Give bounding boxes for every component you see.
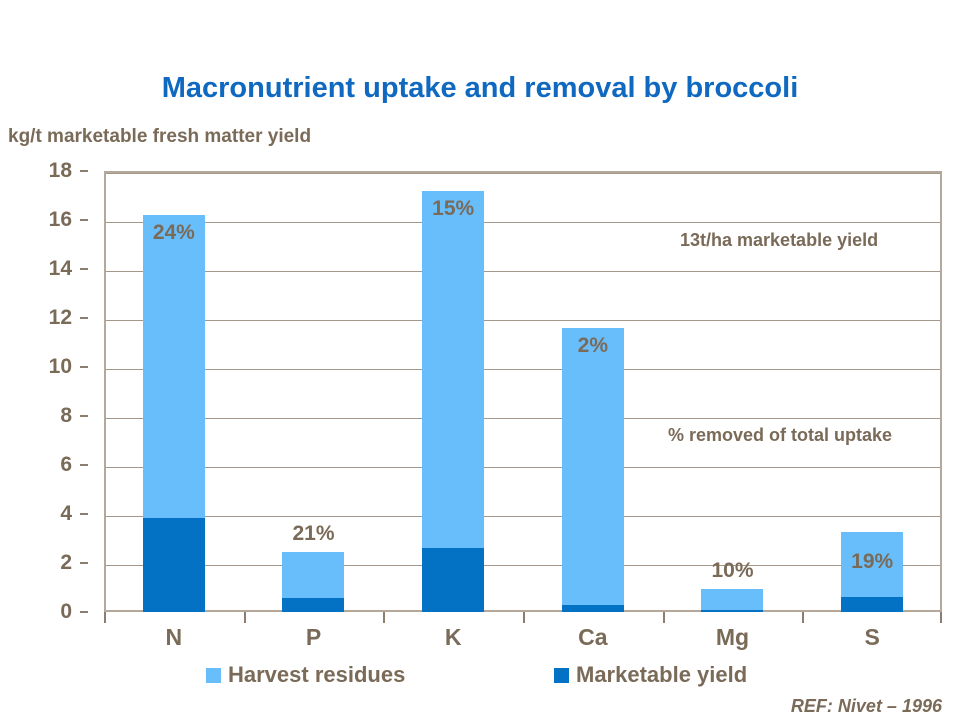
y-axis-tick-mark <box>80 611 88 613</box>
bar-group-k: 15% <box>383 171 523 612</box>
x-axis-tick-label-s: S <box>864 624 879 651</box>
y-axis-tick-label: 14 <box>49 257 72 281</box>
x-axis-tick-label-n: N <box>166 624 183 651</box>
bar-stack[interactable] <box>282 552 344 612</box>
bar-value-label: 15% <box>432 197 474 221</box>
annotation-percent-removed: % removed of total uptake <box>668 425 892 446</box>
y-axis-tick-label: 16 <box>49 208 72 232</box>
page-title: Macronutrient uptake and removal by broc… <box>0 72 960 105</box>
bar-segment-marketable-yield[interactable] <box>841 597 903 612</box>
bar-segment-harvest-residues[interactable] <box>701 589 763 610</box>
bar-group-n: 24% <box>104 171 244 612</box>
x-axis-tick-label-mg: Mg <box>716 624 749 651</box>
y-axis-tick-mark <box>80 464 88 466</box>
y-axis-tick-mark <box>80 513 88 515</box>
bar-segment-harvest-residues[interactable] <box>562 328 624 605</box>
x-axis-tick-mark <box>940 612 942 623</box>
bar-value-label: 21% <box>292 522 334 546</box>
y-axis-tick-mark <box>80 317 88 319</box>
y-axis-tick-label: 10 <box>49 355 72 379</box>
bar-stack[interactable] <box>701 589 763 612</box>
slide-canvas: Macronutrient uptake and removal by broc… <box>0 0 960 720</box>
y-axis: 181614121086420 <box>0 171 88 612</box>
bar-stack[interactable] <box>143 215 205 612</box>
x-axis-tick-mark <box>523 612 525 623</box>
x-axis-tick-label-k: K <box>445 624 462 651</box>
bar-segment-marketable-yield[interactable] <box>282 598 344 612</box>
bar-segment-harvest-residues[interactable] <box>282 552 344 598</box>
y-axis-tick-mark <box>80 170 88 172</box>
y-axis-tick-label: 12 <box>49 306 72 330</box>
y-axis-tick-label: 6 <box>60 453 72 477</box>
y-axis-tick-label: 2 <box>60 551 72 575</box>
bar-stack[interactable] <box>422 191 484 612</box>
x-axis: NPKCaMgS <box>104 612 942 658</box>
bar-value-label: 10% <box>711 559 753 583</box>
bar-group-p: 21% <box>244 171 384 612</box>
bar-group-ca: 2% <box>523 171 663 612</box>
x-axis-tick-label-p: P <box>306 624 321 651</box>
bar-segment-marketable-yield[interactable] <box>422 548 484 612</box>
x-axis-tick-mark <box>104 612 106 623</box>
y-axis-tick-label: 4 <box>60 502 72 526</box>
bar-value-label: 24% <box>153 221 195 245</box>
bar-value-label: 2% <box>578 334 608 358</box>
x-axis-tick-mark <box>244 612 246 623</box>
bar-segment-harvest-residues[interactable] <box>143 215 205 518</box>
bar-value-label: 19% <box>851 550 893 574</box>
y-axis-tick-label: 8 <box>60 404 72 428</box>
y-axis-tick-mark <box>80 219 88 221</box>
legend-swatch-icon <box>206 668 221 683</box>
x-axis-tick-mark <box>663 612 665 623</box>
y-axis-unit-caption: kg/t marketable fresh matter yield <box>8 126 311 148</box>
legend-item-marketable-yield[interactable]: Marketable yield <box>554 662 747 688</box>
chart-legend: Harvest residuesMarketable yield <box>104 662 942 692</box>
y-axis-tick-label: 0 <box>60 600 72 624</box>
x-axis-tick-mark <box>383 612 385 623</box>
legend-item-harvest-residues[interactable]: Harvest residues <box>206 662 405 688</box>
legend-label: Marketable yield <box>576 662 747 688</box>
y-axis-tick-mark <box>80 415 88 417</box>
bar-segment-harvest-residues[interactable] <box>422 191 484 549</box>
y-axis-tick-mark <box>80 562 88 564</box>
source-reference: REF: Nivet – 1996 <box>791 696 942 717</box>
legend-swatch-icon <box>554 668 569 683</box>
bar-segment-marketable-yield[interactable] <box>143 518 205 612</box>
x-axis-tick-mark <box>802 612 804 623</box>
y-axis-tick-mark <box>80 268 88 270</box>
bar-segment-marketable-yield[interactable] <box>562 605 624 612</box>
x-axis-tick-label-ca: Ca <box>578 624 607 651</box>
annotation-marketable-yield: 13t/ha marketable yield <box>680 230 878 251</box>
bar-stack[interactable] <box>562 328 624 612</box>
legend-label: Harvest residues <box>228 662 405 688</box>
y-axis-tick-mark <box>80 366 88 368</box>
y-axis-tick-label: 18 <box>49 159 72 183</box>
